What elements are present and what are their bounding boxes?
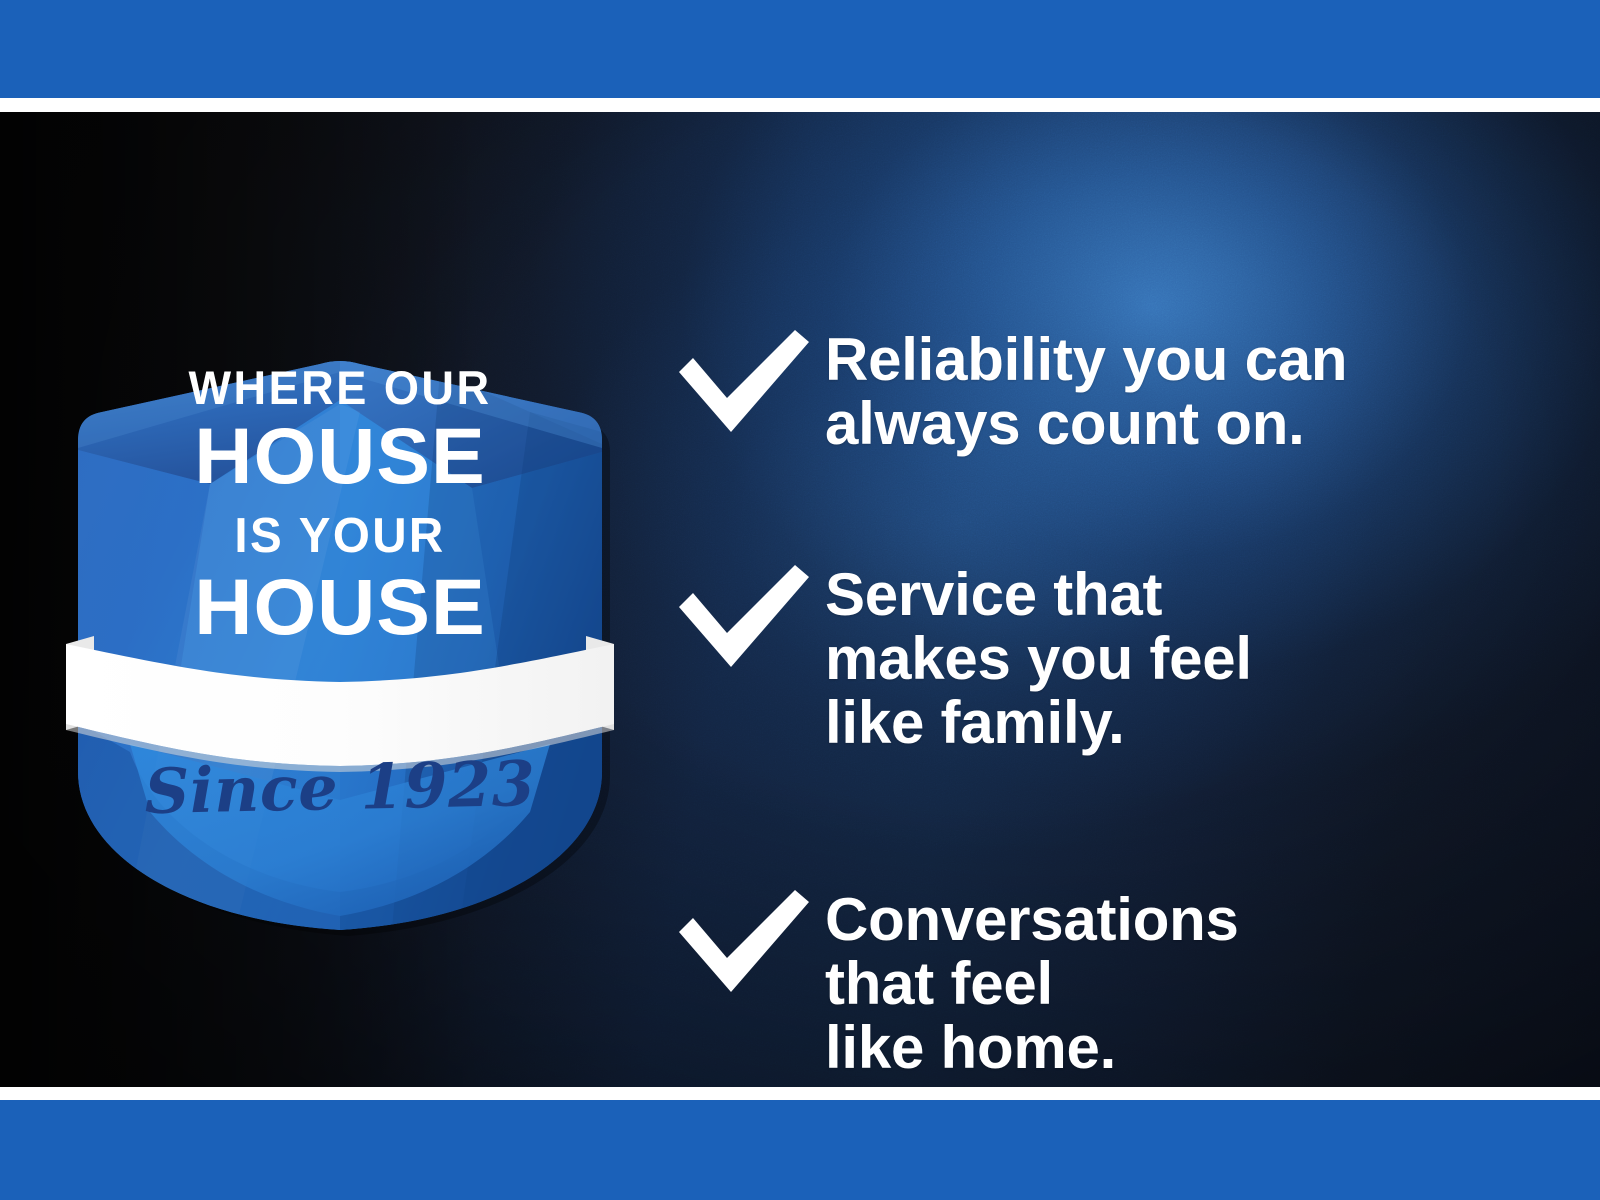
list-item-line: like family. [825, 691, 1565, 755]
list-item-line: makes you feel [825, 627, 1565, 691]
bottom-brand-bar [0, 1100, 1600, 1200]
check-icon [665, 559, 825, 669]
poster-stage: WHERE OUR HOUSE IS YOUR HOUSE Since 1923… [0, 112, 1600, 1087]
list-item: Service that makes you feel like family. [665, 559, 1565, 756]
list-item: Reliability you can always count on. [665, 324, 1565, 456]
list-item-line: Conversations [825, 888, 1565, 952]
list-item-text: Service that makes you feel like family. [825, 559, 1565, 756]
top-divider [0, 98, 1600, 112]
shield-logo: WHERE OUR HOUSE IS YOUR HOUSE Since 1923 [60, 252, 620, 932]
benefits-list: Reliability you can always count on. Ser… [665, 224, 1565, 1087]
list-item-text: Conversations that feel like home. [825, 884, 1565, 1081]
check-icon [665, 324, 825, 434]
shield-body [78, 358, 620, 952]
list-item-line: Reliability you can [825, 328, 1565, 392]
list-item-text: Reliability you can always count on. [825, 324, 1565, 456]
check-icon [665, 884, 825, 994]
list-item-line: like home. [825, 1016, 1565, 1080]
list-item: Conversations that feel like home. [665, 884, 1565, 1081]
list-item-line: that feel [825, 952, 1565, 1016]
top-brand-bar [0, 0, 1600, 98]
list-item-line: Service that [825, 563, 1565, 627]
list-item-line: always count on. [825, 392, 1565, 456]
bottom-divider [0, 1087, 1600, 1100]
promo-poster: WHERE OUR HOUSE IS YOUR HOUSE Since 1923… [0, 0, 1600, 1200]
